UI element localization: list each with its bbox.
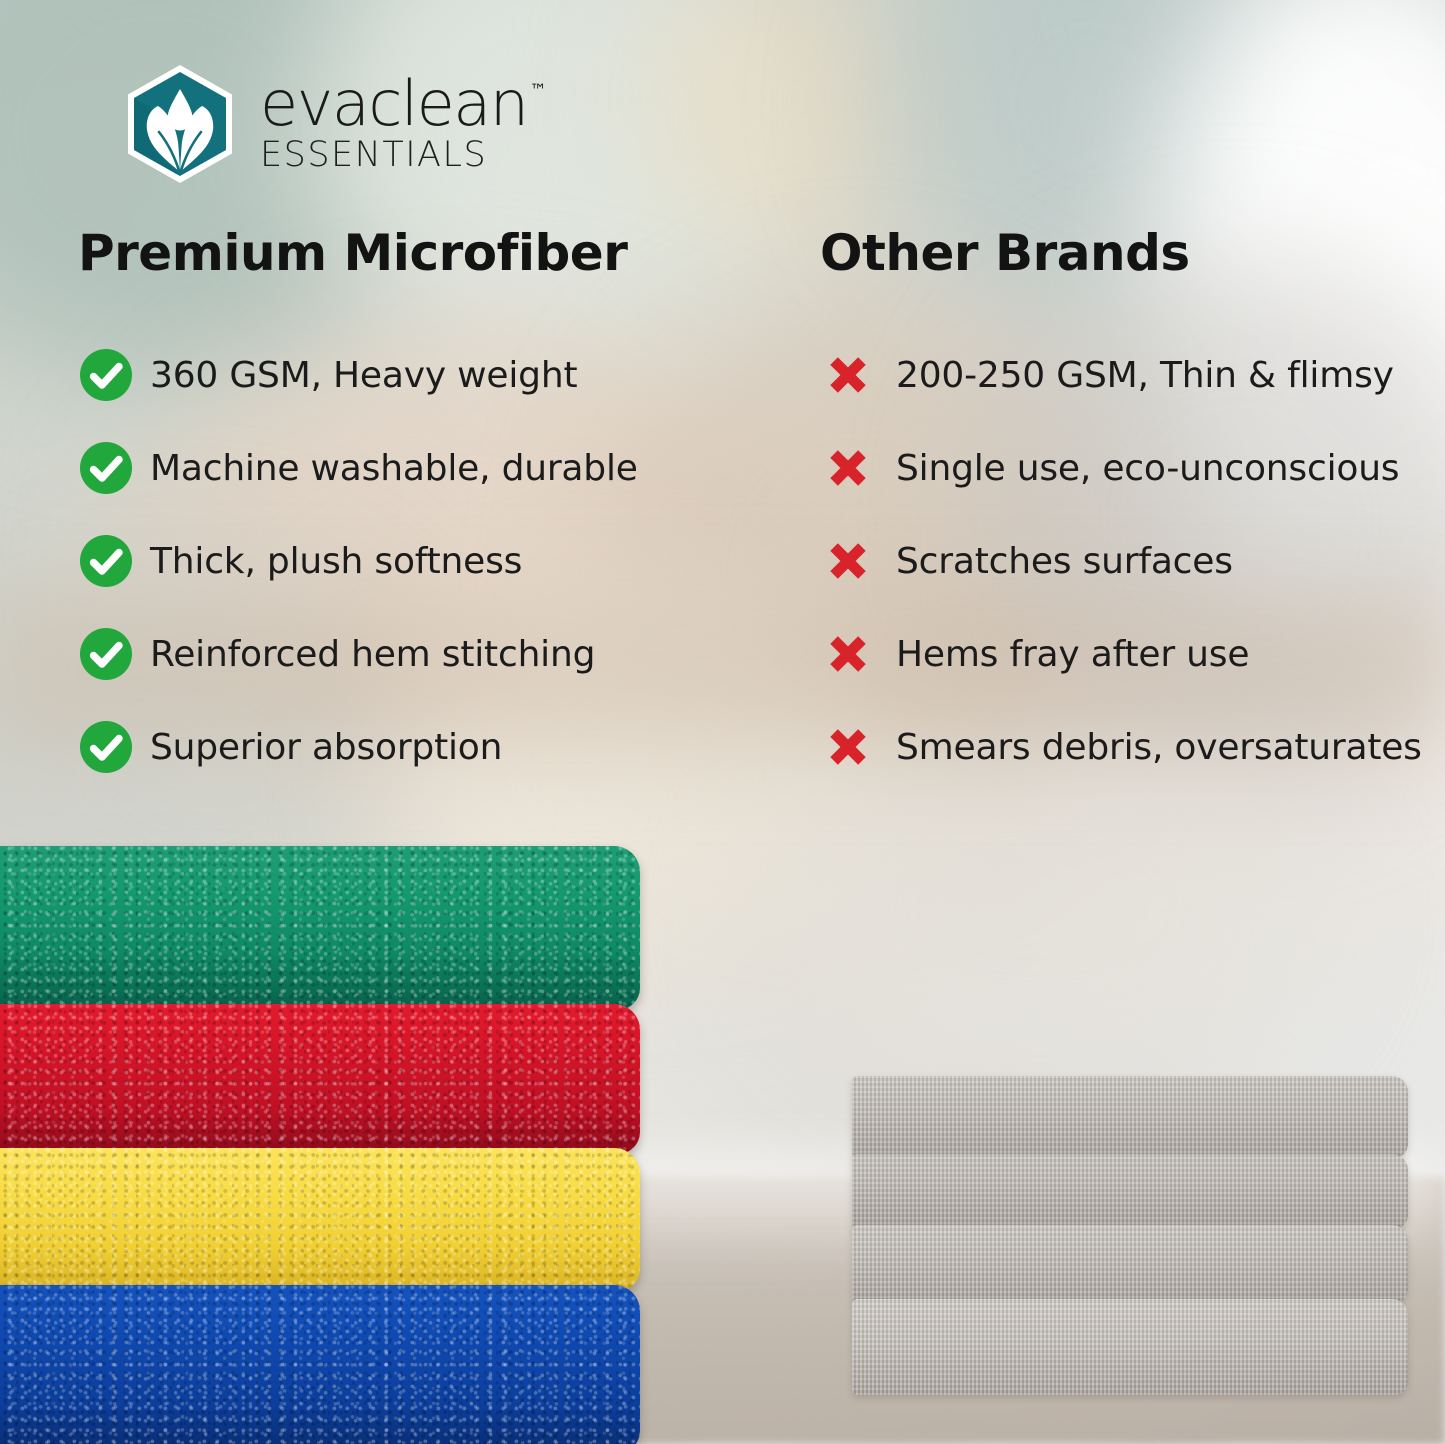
list-item-label: Reinforced hem stitching [150,634,595,675]
other-brands-column: Other Brands 200-250 GSM, Thin & flimsy [772,224,1445,778]
other-brands-column-title: Other Brands [820,224,1445,282]
list-item-label: Thick, plush softness [150,541,522,582]
list-item-label: Scratches surfaces [896,541,1233,582]
colored-microfiber-towel-stack [0,846,640,1444]
premium-microfiber-column: Premium Microfiber 360 GSM, Heavy weight [0,224,772,778]
evaclean-hexagon-leaf-droplet-logo [118,62,242,186]
premium-feature-list: 360 GSM, Heavy weight Machine washable, … [78,344,772,778]
towel-green [0,846,640,1010]
towel-red [0,1004,640,1154]
list-item: 200-250 GSM, Thin & flimsy [820,344,1445,406]
towel-blue [0,1285,640,1444]
list-item: 360 GSM, Heavy weight [78,344,772,406]
list-item-label: Hems fray after use [896,634,1249,675]
green-check-circle-icon [78,440,134,496]
premium-column-title: Premium Microfiber [78,224,772,282]
green-check-circle-icon [78,533,134,589]
green-check-circle-icon [78,626,134,682]
towel-gray [852,1299,1408,1395]
comparison-columns: Premium Microfiber 360 GSM, Heavy weight [0,224,1445,778]
brand-wordmark: evaclean [260,75,528,132]
other-brands-feature-list: 200-250 GSM, Thin & flimsy Single use, e… [820,344,1445,778]
list-item: Thick, plush softness [78,530,772,592]
red-x-icon [820,626,876,682]
red-x-icon [820,533,876,589]
gray-microfiber-towel-stack [852,1076,1408,1395]
brand-subtitle: ESSENTIALS [260,135,547,175]
list-item-label: Single use, eco-unconscious [896,448,1399,489]
red-x-icon [820,347,876,403]
towel-gray [852,1076,1408,1158]
list-item: Smears debris, oversaturates [820,716,1445,778]
brand-logo: evaclean ™ ESSENTIALS [118,62,547,186]
list-item-label: Machine washable, durable [150,448,638,489]
product-comparison-infographic: evaclean ™ ESSENTIALS Premium Microfiber… [0,0,1445,1444]
list-item: Superior absorption [78,716,772,778]
list-item: Machine washable, durable [78,437,772,499]
list-item-label: Smears debris, oversaturates [896,727,1422,768]
towel-gray [852,1225,1408,1303]
list-item-label: 360 GSM, Heavy weight [150,355,577,396]
list-item-label: Superior absorption [150,727,502,768]
list-item: Hems fray after use [820,623,1445,685]
towel-gray [852,1154,1408,1229]
red-x-icon [820,719,876,775]
list-item: Reinforced hem stitching [78,623,772,685]
list-item: Scratches surfaces [820,530,1445,592]
green-check-circle-icon [78,347,134,403]
list-item-label: 200-250 GSM, Thin & flimsy [896,355,1394,396]
trademark-symbol: ™ [530,83,547,100]
list-item: Single use, eco-unconscious [820,437,1445,499]
green-check-circle-icon [78,719,134,775]
red-x-icon [820,440,876,496]
towel-yellow [0,1148,640,1291]
